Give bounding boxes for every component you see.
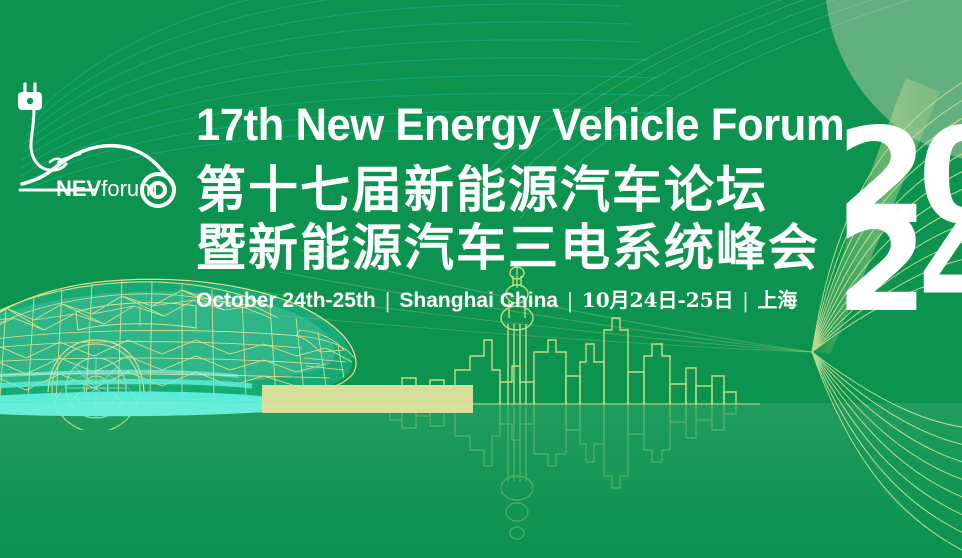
ground-bar-reflection [262, 403, 473, 413]
separator-1: | [376, 289, 400, 313]
separator-3: | [734, 289, 758, 313]
date-english: October 24th-25th [196, 289, 376, 313]
nevforum-logo[interactable]: NEVforum [8, 78, 188, 210]
logo-brand-light: forum [101, 176, 157, 201]
year-2024-glyphs: 20 24 [838, 104, 962, 316]
event-date-location-line: October 24th-25th | Shanghai China | 10月… [196, 288, 836, 313]
logo-brand-bold: NEV [56, 176, 102, 201]
headline-block: 17th New Energy Vehicle Forum 第十七届新能源汽车论… [196, 100, 836, 313]
year-bottom-text: 24 [838, 188, 962, 316]
nevforum-logo-icon: NEVforum [8, 78, 188, 210]
city-english: Shanghai China [399, 289, 558, 313]
title-chinese-line-1: 第十七届新能源汽车论坛 [196, 160, 836, 220]
poster-canvas: NEVforum 20 24 17th New Energy Vehicle F… [0, 0, 962, 558]
date-chinese: 10月24日-25日 [582, 288, 734, 312]
title-chinese-line-2: 暨新能源汽车三电系统峰会 [196, 218, 836, 278]
title-english: 17th New Energy Vehicle Forum [196, 100, 817, 150]
logo-brand-text: NEVforum [56, 176, 158, 201]
separator-2: | [558, 289, 582, 313]
city-chinese: 上海 [757, 288, 797, 312]
year-2024-mark: 20 24 [838, 104, 962, 316]
